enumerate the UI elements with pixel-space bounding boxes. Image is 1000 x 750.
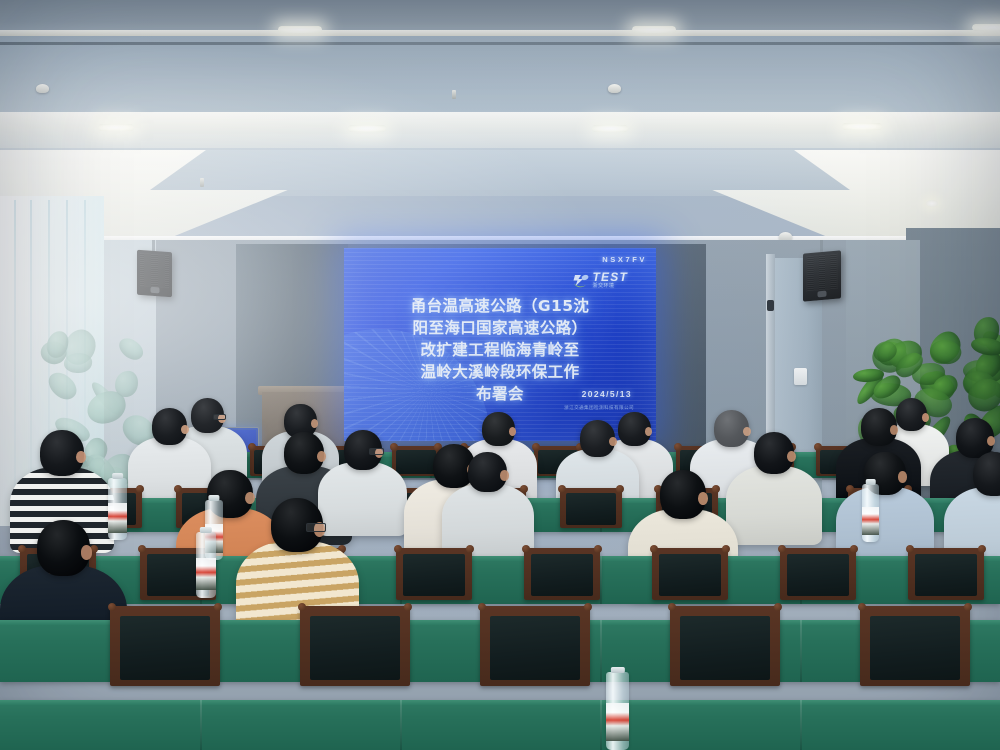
chair-finial	[722, 545, 730, 553]
chair-finial	[594, 545, 602, 553]
person-ear	[311, 419, 318, 428]
chair-finial	[978, 545, 986, 553]
person-head	[861, 408, 897, 446]
chair-back-pad	[787, 554, 849, 596]
eyeglasses-icon	[369, 448, 384, 454]
conference-chair[interactable]	[780, 548, 856, 600]
chair-finial	[650, 545, 658, 553]
chair-finial	[964, 603, 972, 611]
tablecloth-edge	[0, 700, 1000, 705]
conference-room-photo: NSX7FV TEST 浙交环境 甬台温高速公路（G15沈阳至海口国家高速公路）…	[0, 0, 1000, 750]
conference-chair[interactable]	[908, 548, 984, 600]
chair-finial	[298, 603, 306, 611]
person-head	[754, 432, 794, 474]
conference-chair[interactable]	[652, 548, 728, 600]
person-ear	[81, 545, 93, 560]
person-head	[152, 408, 187, 445]
person-torso	[726, 466, 822, 545]
chair-back-pad	[915, 554, 977, 596]
person-head	[580, 420, 615, 457]
chair-finial	[138, 545, 146, 553]
conference-chair[interactable]	[110, 606, 220, 686]
chair-back-pad	[566, 493, 617, 525]
audience-member	[726, 432, 822, 553]
person-ear	[76, 451, 86, 463]
chair-finial	[136, 485, 144, 493]
water-bottle	[862, 484, 879, 542]
conference-chair[interactable]	[396, 548, 472, 600]
person-ear	[987, 436, 995, 446]
chair-back-pad	[490, 616, 580, 680]
bottle-label	[196, 558, 216, 590]
chair-finial	[668, 603, 676, 611]
conference-chair[interactable]	[480, 606, 590, 686]
chair-finial	[850, 545, 858, 553]
bottle-label	[862, 507, 879, 535]
bottle-label	[606, 703, 629, 740]
chair-back-pad	[120, 616, 210, 680]
conference-chair[interactable]	[670, 606, 780, 686]
chair-finial	[214, 603, 222, 611]
chair-finial	[404, 603, 412, 611]
chair-finial	[466, 545, 474, 553]
bottle-cap	[200, 527, 212, 533]
person-ear	[698, 492, 708, 505]
chair-back-pad	[680, 616, 770, 680]
chair-finial	[906, 545, 914, 553]
bottle-cap	[865, 479, 876, 485]
tablecloth-fold	[600, 556, 602, 604]
person-ear	[181, 425, 189, 435]
chair-finial	[108, 603, 116, 611]
chair-finial	[478, 603, 486, 611]
bottle-cap	[610, 667, 624, 673]
water-bottle	[196, 532, 216, 598]
person-ear	[890, 425, 898, 435]
person-ear	[898, 471, 907, 482]
chair-finial	[774, 603, 782, 611]
chair-finial	[394, 545, 402, 553]
person-ear	[787, 451, 796, 462]
eyeglasses-icon	[213, 414, 226, 420]
chair-finial	[616, 485, 624, 493]
chair-back-pad	[403, 554, 465, 596]
chair-finial	[674, 443, 682, 451]
conference-table	[0, 700, 1000, 750]
person-head	[468, 452, 507, 492]
eyeglasses-icon	[306, 523, 327, 532]
bottle-cap	[208, 495, 219, 501]
tablecloth-fold	[600, 620, 602, 682]
conference-chair[interactable]	[524, 548, 600, 600]
conference-chair[interactable]	[300, 606, 410, 686]
chair-finial	[858, 603, 866, 611]
person-head	[973, 452, 1000, 496]
chair-finial	[584, 603, 592, 611]
tablecloth-fold	[200, 700, 202, 750]
person-ear	[645, 427, 652, 436]
tablecloth-fold	[800, 700, 802, 750]
chair-back-pad	[870, 616, 960, 680]
water-bottle	[606, 672, 629, 750]
chair-finial	[558, 485, 566, 493]
conference-chair[interactable]	[560, 488, 622, 528]
tablecloth-fold	[800, 620, 802, 682]
person-head	[37, 520, 91, 576]
person-ear	[609, 437, 617, 447]
person-ear	[500, 470, 509, 481]
tablecloth-fold	[400, 700, 402, 750]
chair-back-pad	[310, 616, 400, 680]
chair-back-pad	[531, 554, 593, 596]
chair-finial	[778, 545, 786, 553]
person-ear	[509, 427, 516, 436]
person-head	[40, 430, 84, 476]
chair-finial	[248, 443, 256, 451]
person-head	[482, 412, 515, 446]
person-ear	[922, 413, 929, 422]
chair-back-pad	[659, 554, 721, 596]
conference-chair[interactable]	[860, 606, 970, 686]
chair-finial	[522, 545, 530, 553]
tablecloth-fold	[600, 700, 602, 750]
person-head	[271, 498, 323, 552]
bottle-cap	[112, 473, 124, 479]
person-head	[660, 470, 707, 519]
person-head	[344, 430, 382, 470]
